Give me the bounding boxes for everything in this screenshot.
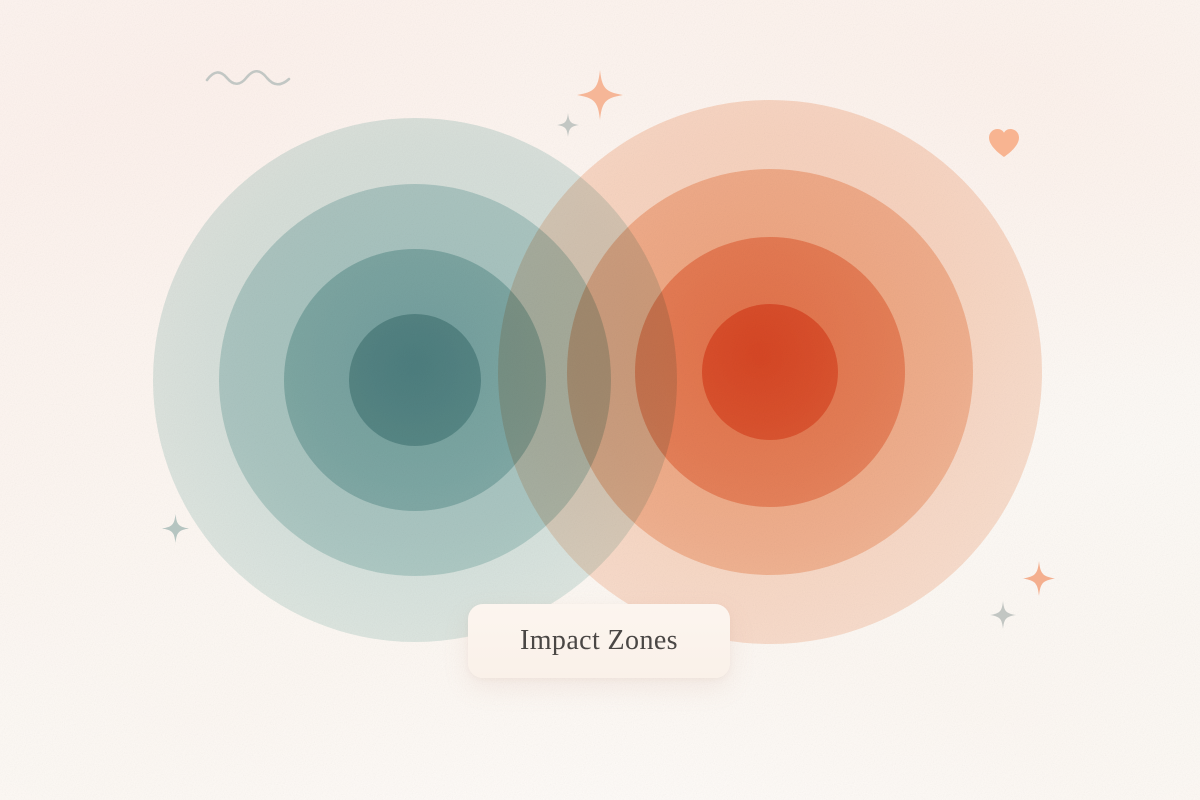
teal-ring-core <box>349 314 481 446</box>
impact-zones-label-text: Impact Zones <box>520 625 678 657</box>
sparkle-four-point-icon <box>557 113 579 137</box>
sparkle-four-point-icon <box>162 514 189 543</box>
artwork-canvas: Impact Zones <box>0 0 1200 800</box>
sparkle-four-point-icon <box>990 601 1016 629</box>
impact-zones-label-chip[interactable]: Impact Zones <box>468 604 730 678</box>
sparkle-four-point-icon <box>1023 561 1055 596</box>
sparkle-four-point-icon <box>577 70 623 120</box>
wave-squiggle-icon <box>203 62 295 92</box>
heart-icon <box>988 128 1020 158</box>
coral-ring-core <box>702 304 838 440</box>
